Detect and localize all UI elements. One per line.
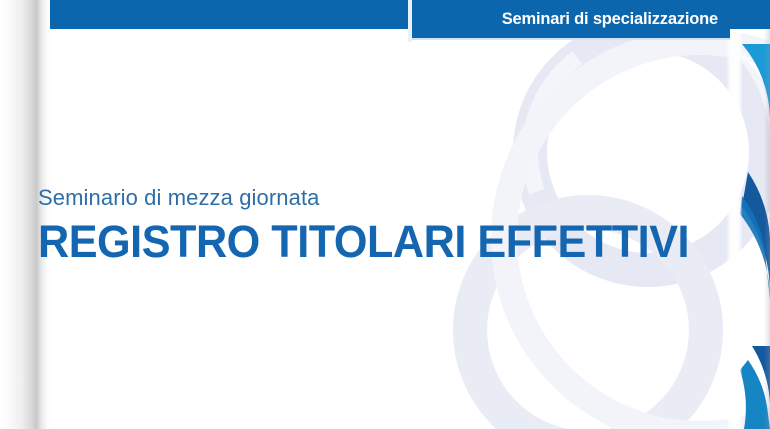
- right-gutter: [726, 0, 742, 429]
- right-edge-shadow: [764, 0, 770, 429]
- cover-kicker: Seminario di mezza giornata: [38, 186, 716, 210]
- cover-text-block: Seminario di mezza giornata REGISTRO TIT…: [38, 186, 716, 265]
- brochure-cover: Seminari di specializzazione Seminario d…: [0, 0, 770, 429]
- cover-title: REGISTRO TITOLARI EFFETTIVI: [38, 218, 689, 265]
- banner-title: Seminari di specializzazione: [412, 0, 718, 38]
